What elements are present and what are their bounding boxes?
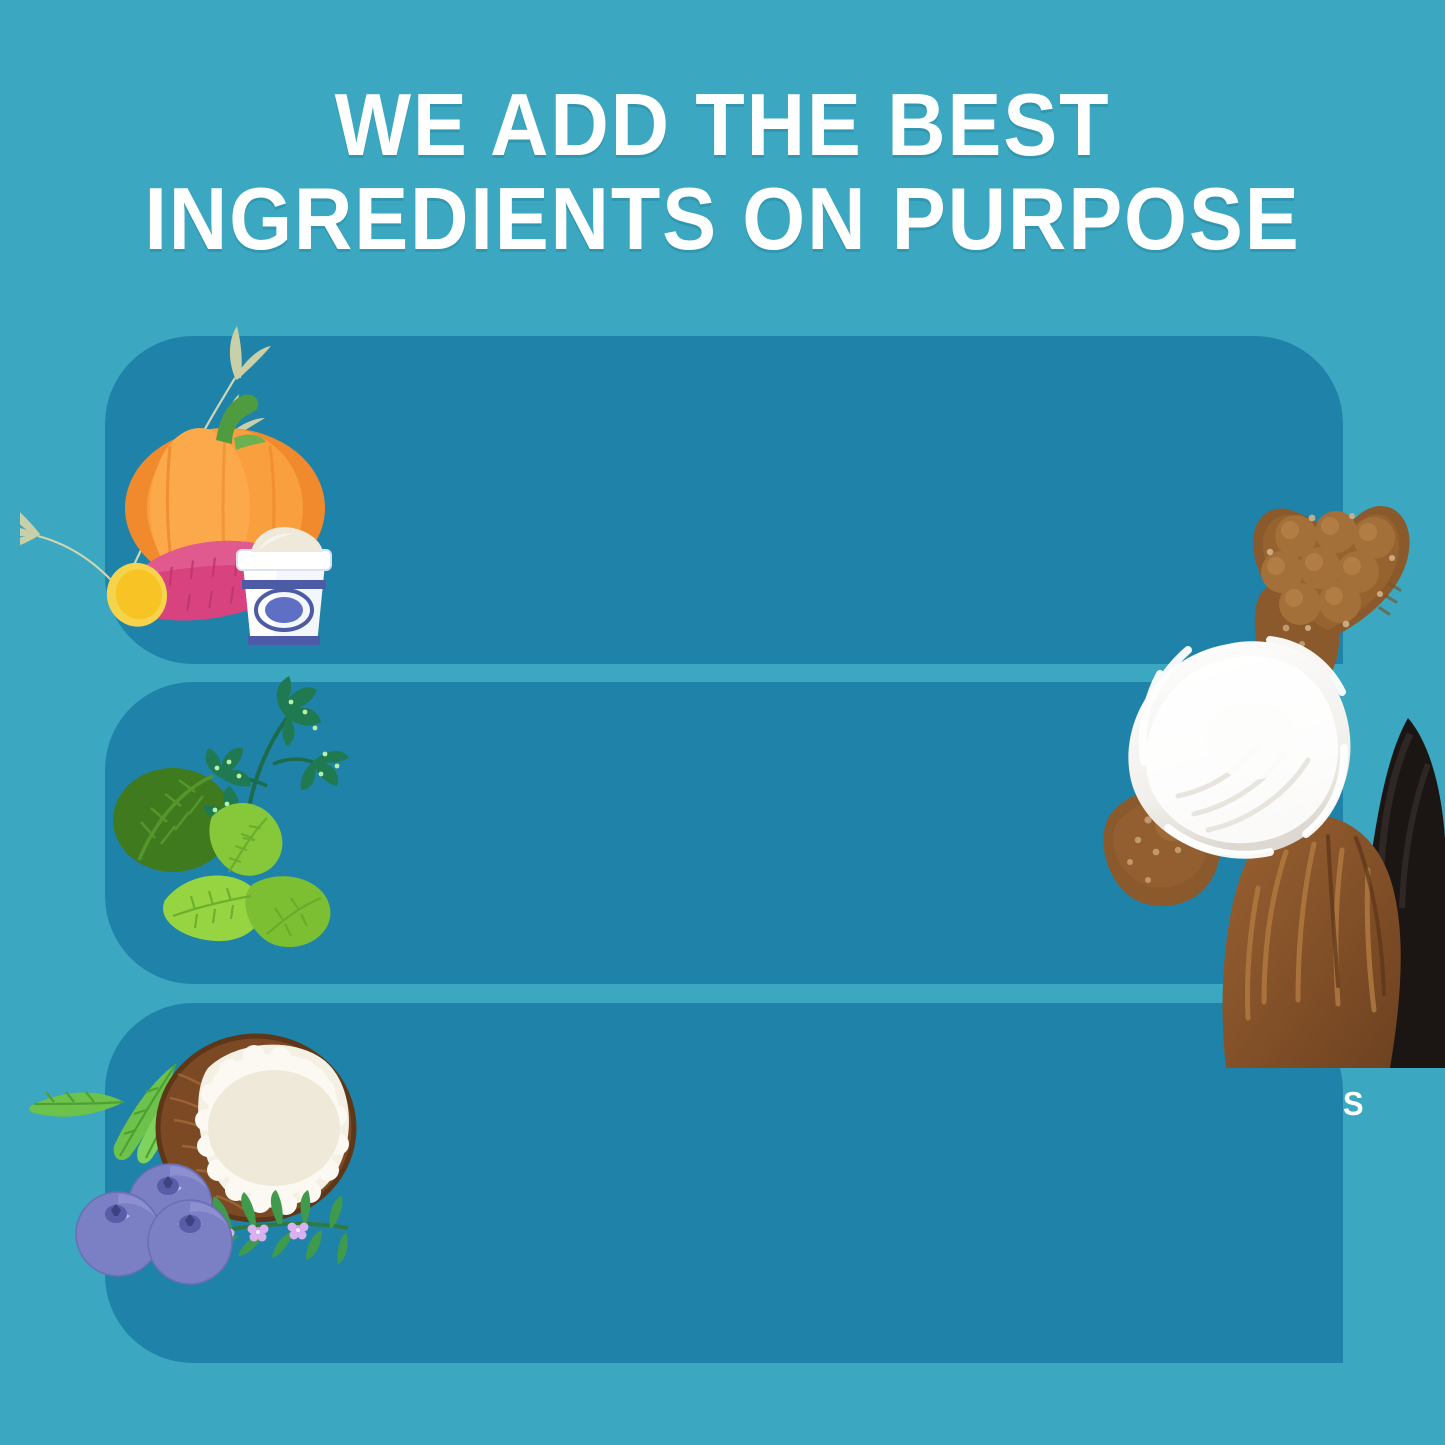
card-health-boosters (105, 1003, 1343, 1363)
infographic-canvas: WE ADD THE BEST INGREDIENTS ON PURPOSE (0, 0, 1445, 1445)
card-gut-microbiome-boosters (105, 336, 1343, 664)
card-natural-breath-fresheners (105, 682, 1343, 984)
title-line-1: WE ADD THE BEST (58, 78, 1387, 172)
title-line-2: INGREDIENTS ON PURPOSE (58, 172, 1387, 266)
page-title: WE ADD THE BEST INGREDIENTS ON PURPOSE (0, 78, 1445, 266)
